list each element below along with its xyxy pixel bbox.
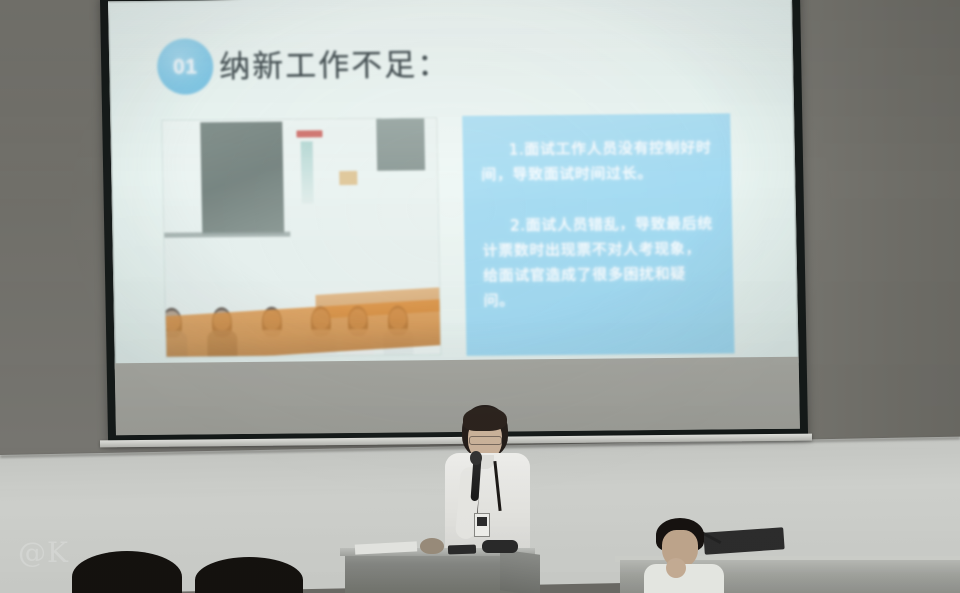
microphone-head [470,451,482,465]
slide-title: 纳新工作不足： [219,39,451,86]
slide-number-label: 01 [173,55,198,79]
wall-right-section [790,0,960,480]
slide-paragraph-2: 2.面试人员错乱，导致最后统计票数时出现票不对人考现象，给面试官造成了很多困扰和… [482,212,716,314]
podium-side-panel [500,549,540,593]
photo-orange-note [339,171,357,185]
photo-blackboard [200,122,284,235]
desk-phone [448,545,476,555]
slide-photo [162,118,440,357]
seated-person [648,518,758,593]
glasses-icon [469,436,502,445]
photo-red-poster [296,130,322,137]
slide-number-badge: 01 [157,38,214,95]
photo-curtain [376,118,425,170]
watermark: @K [18,536,69,569]
desk-paperweight [420,538,444,554]
seated-person-hand [666,558,686,578]
projected-slide: 01 纳新工作不足： [108,0,799,369]
slide-paragraph-1: 1.面试工作人员没有控制好时间，导致面试时间过长。 [481,136,714,188]
presentation-scene: 01 纳新工作不足： [0,0,960,593]
photo-wall-strip [301,141,314,203]
id-badge [474,513,490,537]
projection-screen-frame: 01 纳新工作不足： [100,0,808,443]
desk-microphone [482,540,518,553]
projection-screen-surface: 01 纳新工作不足： [108,0,800,435]
presenter-fringe [463,407,507,431]
slide-text-panel: 1.面试工作人员没有控制好时间，导致面试时间过长。 2.面试人员错乱，导致最后统… [462,113,734,356]
